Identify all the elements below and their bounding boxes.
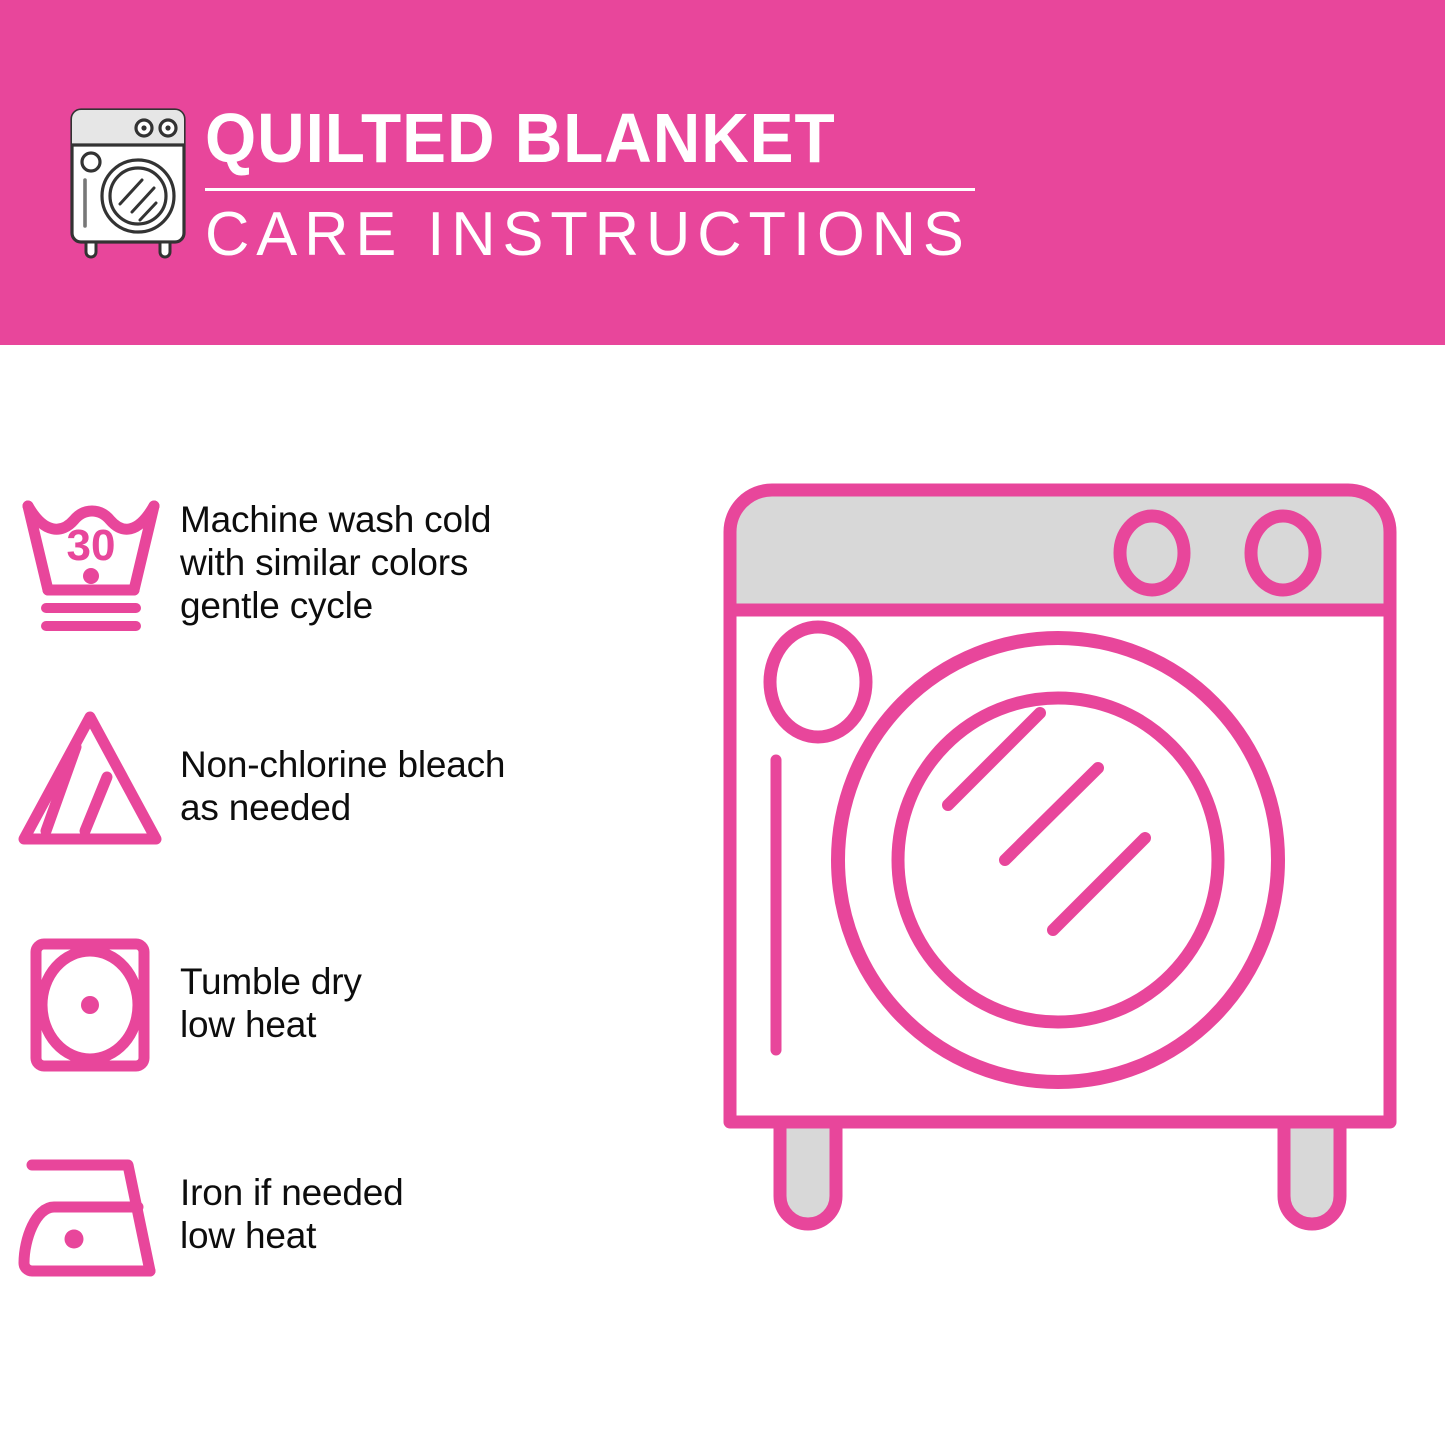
title-divider xyxy=(205,188,975,191)
leg-right xyxy=(1284,1122,1340,1224)
page-subtitle: CARE INSTRUCTIONS xyxy=(205,201,987,269)
header-title-block: QUILTED BLANKET CARE INSTRUCTIONS xyxy=(205,100,995,269)
header-band: QUILTED BLANKET CARE INSTRUCTIONS xyxy=(0,0,1445,345)
care-instructions-infographic: QUILTED BLANKET CARE INSTRUCTIONS 30 xyxy=(0,0,1445,1445)
svg-text:30: 30 xyxy=(67,521,116,570)
iron-low-heat-icon xyxy=(0,1143,180,1293)
detergent-port xyxy=(770,627,866,737)
glass-reflection-lines xyxy=(948,713,1145,930)
care-row-iron-label: Iron if needed low heat xyxy=(180,1143,700,1257)
care-row-bleach-label: Non-chlorine bleach as needed xyxy=(180,703,700,829)
drum-inner-ring xyxy=(898,698,1218,1022)
washing-machine-icon xyxy=(62,104,194,260)
care-row-tumble-dry: Tumble dry low heat xyxy=(0,930,700,1080)
care-row-bleach: Non-chlorine bleach as needed xyxy=(0,703,700,853)
bleach-triangle-nonchlorine-icon xyxy=(0,703,180,853)
care-row-tumble-dry-label: Tumble dry low heat xyxy=(180,930,700,1046)
care-row-wash: 30 Machine wash cold with similar colors… xyxy=(0,490,700,640)
front-load-washing-machine-illustration xyxy=(700,460,1420,1380)
care-row-iron: Iron if needed low heat xyxy=(0,1143,700,1293)
tumble-dry-low-icon xyxy=(0,930,180,1080)
page-title: QUILTED BLANKET xyxy=(205,100,948,176)
care-row-wash-label: Machine wash cold with similar colors ge… xyxy=(180,490,700,627)
care-instruction-list: 30 Machine wash cold with similar colors… xyxy=(0,345,700,1445)
leg-left xyxy=(780,1122,836,1224)
wash-tub-30-gentle-icon: 30 xyxy=(0,490,180,640)
